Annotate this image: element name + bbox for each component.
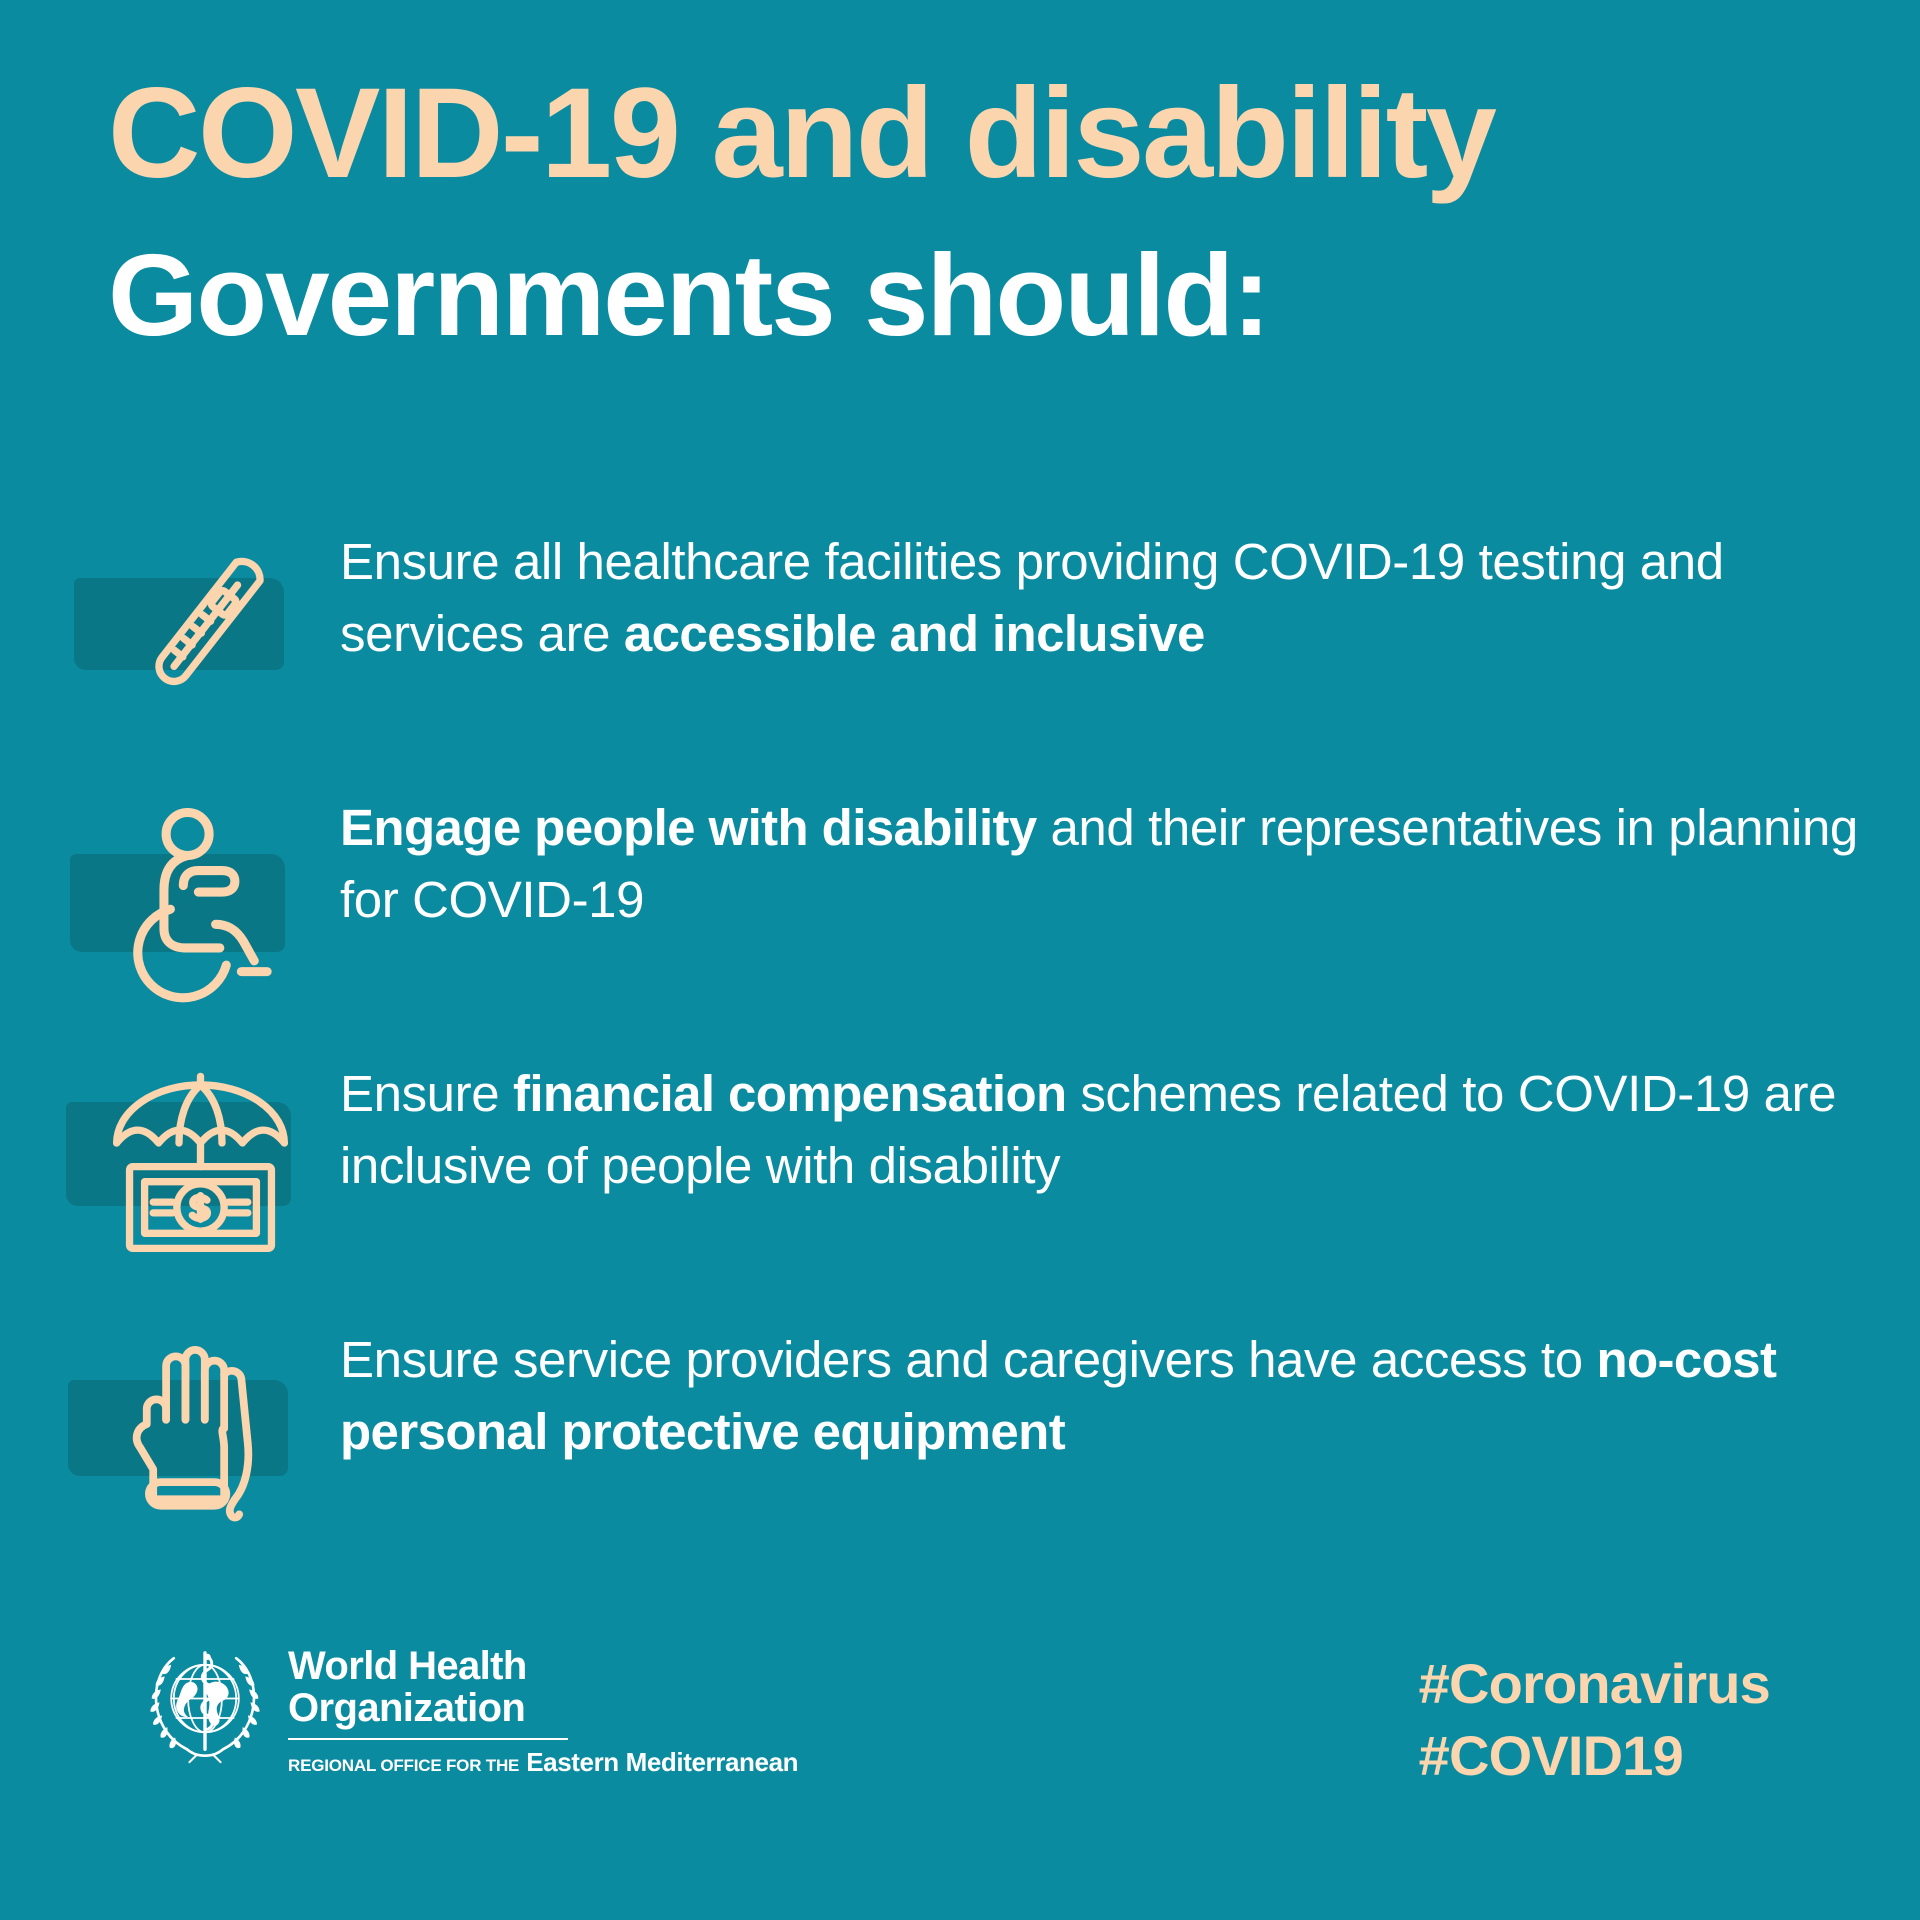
list-item-text: Ensure all healthcare facilities providi… [340,520,1880,671]
poster-canvas: COVID-19 and disability Governments shou… [0,0,1920,1920]
wheelchair-icon [93,791,308,1011]
icon-cell-umbrella-money [60,1052,340,1282]
who-wordmark: World Health Organization REGIONAL OFFIC… [288,1640,798,1778]
list-item: Engage people with disability and their … [60,786,1880,1052]
who-name-line2: Organization [288,1688,798,1730]
hashtag-block: #Coronavirus #COVID19 [1419,1648,1770,1791]
glove-icon [93,1323,308,1543]
recommendation-list: Ensure all healthcare facilities providi… [60,520,1880,1584]
text-segment-regular: Ensure [340,1065,513,1122]
who-name-line1: World Health [288,1646,798,1688]
page-subtitle: Governments should: [108,227,1848,364]
who-logo: World Health Organization REGIONAL OFFIC… [140,1640,798,1778]
text-segment-regular: Ensure service providers and caregivers … [340,1331,1596,1388]
logo-divider [288,1738,568,1740]
list-item-text: Engage people with disability and their … [340,786,1880,937]
thermometer-icon [93,525,308,745]
text-segment-bold: Engage people with disability [340,799,1037,856]
text-segment-bold: financial compensation [513,1065,1067,1122]
who-region-name: Eastern Mediterranean [526,1747,798,1778]
icon-cell-wheelchair [60,786,340,1016]
list-item: Ensure service providers and caregivers … [60,1318,1880,1584]
text-segment-bold: accessible and inclusive [624,605,1205,662]
who-region-prefix: REGIONAL OFFICE FOR THE [288,1756,519,1776]
footer: World Health Organization REGIONAL OFFIC… [0,1620,1920,1920]
hashtag-coronavirus: #Coronavirus [1419,1648,1770,1720]
list-item-text: Ensure financial compensation schemes re… [340,1052,1880,1203]
umbrella-money-icon [93,1057,308,1277]
list-item: Ensure financial compensation schemes re… [60,1052,1880,1318]
hashtag-covid19: #COVID19 [1419,1720,1770,1792]
headline-block: COVID-19 and disability Governments shou… [108,62,1848,364]
icon-cell-glove [60,1318,340,1548]
list-item-text: Ensure service providers and caregivers … [340,1318,1880,1469]
list-item: Ensure all healthcare facilities providi… [60,520,1880,786]
page-title: COVID-19 and disability [108,62,1848,205]
who-un-emblem-icon [140,1640,270,1770]
who-region-line: REGIONAL OFFICE FOR THE Eastern Mediterr… [288,1747,798,1778]
icon-cell-thermometer [60,520,340,750]
